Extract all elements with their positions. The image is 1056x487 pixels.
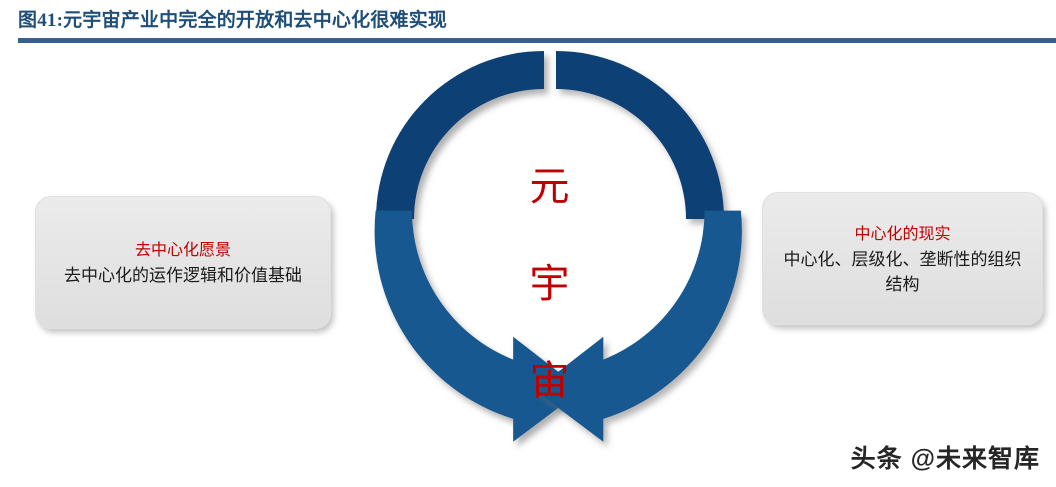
center-label: 元 宇 宙	[505, 138, 595, 429]
card-right-body: 中心化、层级化、垄断性的组织结构	[777, 247, 1028, 297]
page-title: 图41:元宇宙产业中完全的开放和去中心化很难实现	[18, 8, 1056, 34]
center-label-char-1: 元	[505, 138, 595, 235]
card-decentralized-vision: 去中心化愿景 去中心化的运作逻辑和价值基础	[35, 196, 331, 329]
center-label-char-2: 宇	[505, 235, 595, 332]
watermark: 头条 @未来智库	[851, 439, 1040, 475]
card-right-heading: 中心化的现实	[854, 223, 950, 247]
card-left-body: 去中心化的运作逻辑和价值基础	[64, 263, 302, 288]
card-centralized-reality: 中心化的现实 中心化、层级化、垄断性的组织结构	[762, 192, 1043, 325]
card-left-heading: 去中心化愿景	[135, 239, 231, 263]
center-label-char-3: 宙	[505, 332, 595, 429]
title-block: 图41:元宇宙产业中完全的开放和去中心化很难实现	[18, 8, 1056, 34]
circular-arrow-diagram: 元 宇 宙 去中心化愿景 去中心化的运作逻辑和价值基础 中心化的现实 中心化、层…	[0, 43, 1056, 487]
